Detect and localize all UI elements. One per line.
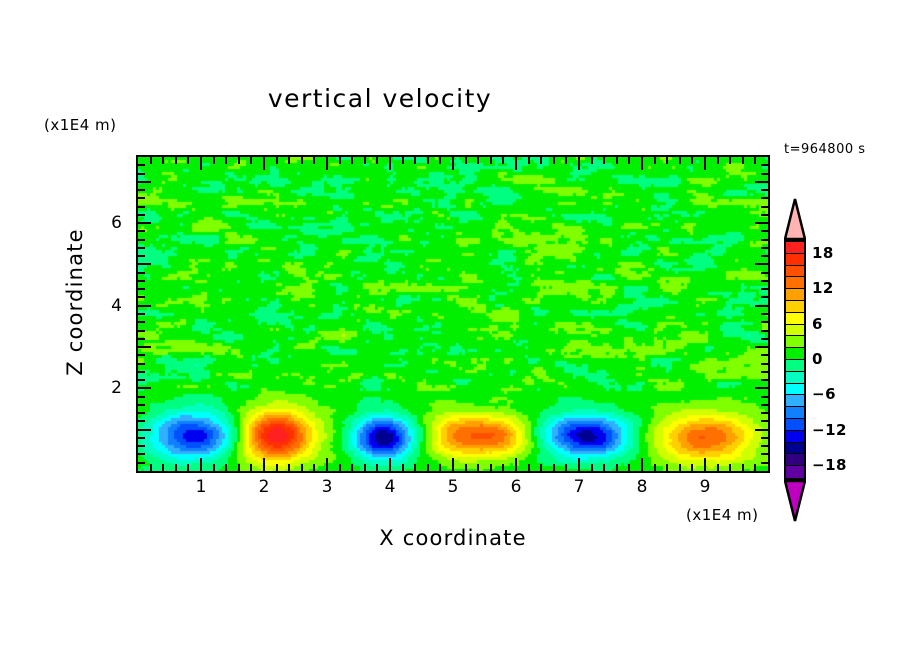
x-tick-label: 5	[433, 477, 473, 497]
x-tick-bottom	[603, 464, 605, 471]
x-tick-bottom	[502, 464, 504, 471]
x-tick-top	[364, 157, 366, 164]
x-tick-bottom	[717, 464, 719, 471]
z-tick-left	[138, 453, 145, 455]
x-tick-bottom	[389, 458, 391, 471]
colorbar-band	[786, 454, 804, 466]
x-tick-top	[402, 157, 404, 164]
colorbar-band	[786, 360, 804, 372]
z-tick-label: 2	[92, 378, 122, 398]
x-tick-top	[452, 157, 454, 170]
z-tick-left	[138, 164, 145, 166]
z-tick-right	[761, 363, 768, 365]
z-tick-right	[761, 354, 768, 356]
x-tick-top	[591, 157, 593, 164]
x-tick-top	[616, 157, 618, 164]
z-tick-right	[761, 379, 768, 381]
z-tick-right	[755, 429, 768, 431]
x-tick-bottom	[339, 464, 341, 471]
z-tick-left	[138, 379, 145, 381]
x-tick-top	[339, 157, 341, 164]
z-tick-left	[138, 412, 145, 414]
x-tick-top	[263, 157, 265, 170]
x-tick-bottom	[150, 464, 152, 471]
z-tick-left	[138, 429, 151, 431]
x-tick-bottom	[540, 464, 542, 471]
x-axis-unit-label: (x1E4 m)	[686, 506, 759, 524]
z-tick-right	[761, 445, 768, 447]
z-tick-right	[755, 222, 768, 224]
colorbar-tick-label: −6	[812, 385, 836, 403]
x-tick-bottom	[729, 464, 731, 471]
x-tick-bottom	[553, 464, 555, 471]
x-tick-top	[515, 157, 517, 170]
x-tick-top	[351, 157, 353, 164]
x-tick-top	[729, 157, 731, 164]
colorbar-tick-label: −12	[812, 421, 847, 439]
z-tick-left	[138, 272, 145, 274]
z-tick-left	[138, 230, 145, 232]
x-tick-bottom	[276, 464, 278, 471]
x-tick-bottom	[578, 458, 580, 471]
z-tick-right	[761, 420, 768, 422]
z-tick-left	[138, 189, 145, 191]
colorbar-band	[786, 419, 804, 431]
colorbar-band	[786, 336, 804, 348]
colorbar-over-arrow	[784, 198, 806, 240]
x-tick-bottom	[402, 464, 404, 471]
z-tick-label: 4	[92, 296, 122, 316]
colorbar-band	[786, 313, 804, 325]
x-tick-top	[200, 157, 202, 170]
z-tick-right	[761, 214, 768, 216]
z-tick-left	[138, 222, 151, 224]
colorbar-tick-label: 18	[812, 244, 834, 262]
x-tick-bottom	[490, 464, 492, 471]
z-tick-right	[761, 173, 768, 175]
colorbar-band	[786, 431, 804, 443]
colorbar-band	[786, 301, 804, 313]
z-tick-left	[138, 288, 145, 290]
x-tick-top	[213, 157, 215, 164]
x-tick-label: 3	[307, 477, 347, 497]
z-tick-left	[138, 354, 145, 356]
x-tick-bottom	[376, 464, 378, 471]
x-tick-top	[704, 157, 706, 170]
x-tick-top	[578, 157, 580, 170]
z-tick-right	[761, 280, 768, 282]
z-tick-right	[755, 346, 768, 348]
x-tick-label: 6	[496, 477, 536, 497]
x-tick-top	[250, 157, 252, 164]
z-tick-left	[138, 462, 145, 464]
z-tick-left	[138, 255, 145, 257]
x-tick-label: 1	[181, 477, 221, 497]
x-tick-top	[641, 157, 643, 170]
x-tick-bottom	[452, 458, 454, 471]
z-tick-right	[761, 247, 768, 249]
colorbar-band	[786, 384, 804, 396]
colorbar-band	[786, 242, 804, 254]
x-tick-top	[376, 157, 378, 164]
z-tick-left	[138, 445, 145, 447]
x-tick-bottom	[477, 464, 479, 471]
z-tick-left	[138, 280, 145, 282]
x-tick-top	[528, 157, 530, 164]
z-tick-right	[761, 272, 768, 274]
z-tick-left	[138, 305, 151, 307]
x-tick-top	[691, 157, 693, 164]
colorbar[interactable]	[784, 240, 806, 480]
z-tick-left	[138, 239, 145, 241]
y-axis-unit-label: (x1E4 m)	[44, 116, 117, 134]
z-tick-right	[761, 296, 768, 298]
x-tick-bottom	[754, 464, 756, 471]
x-tick-bottom	[666, 464, 668, 471]
z-tick-left	[138, 420, 145, 422]
x-tick-top	[717, 157, 719, 164]
z-tick-left	[138, 396, 145, 398]
z-tick-right	[761, 230, 768, 232]
z-tick-right	[761, 453, 768, 455]
x-tick-top	[414, 157, 416, 164]
x-tick-label: 9	[685, 477, 725, 497]
vertical-velocity-heatmap	[138, 157, 768, 471]
z-tick-left	[138, 321, 145, 323]
z-tick-right	[755, 181, 768, 183]
timestamp-label: t=964800 s	[784, 142, 866, 157]
x-tick-top	[502, 157, 504, 164]
x-tick-top	[477, 157, 479, 164]
x-tick-label: 7	[559, 477, 599, 497]
x-tick-top	[490, 157, 492, 164]
x-tick-bottom	[616, 464, 618, 471]
x-tick-bottom	[313, 464, 315, 471]
z-tick-left	[138, 338, 145, 340]
z-tick-right	[761, 338, 768, 340]
z-tick-left	[138, 173, 145, 175]
z-tick-left	[138, 387, 151, 389]
x-tick-bottom	[187, 464, 189, 471]
colorbar-tick-label: 6	[812, 315, 823, 333]
z-tick-left	[138, 404, 145, 406]
contour-plot-area[interactable]	[136, 155, 770, 473]
x-tick-bottom	[628, 464, 630, 471]
x-tick-bottom	[351, 464, 353, 471]
z-tick-right	[761, 396, 768, 398]
z-tick-left	[138, 263, 151, 265]
colorbar-band	[786, 289, 804, 301]
z-tick-right	[761, 255, 768, 257]
x-tick-top	[603, 157, 605, 164]
x-tick-top	[175, 157, 177, 164]
z-tick-right	[755, 263, 768, 265]
x-tick-top	[313, 157, 315, 164]
z-tick-left	[138, 371, 145, 373]
colorbar-band	[786, 325, 804, 337]
x-tick-label: 4	[370, 477, 410, 497]
colorbar-band	[786, 443, 804, 455]
z-tick-right	[761, 189, 768, 191]
x-tick-bottom	[427, 464, 429, 471]
x-tick-bottom	[742, 464, 744, 471]
x-tick-top	[540, 157, 542, 164]
x-tick-top	[679, 157, 681, 164]
colorbar-under-arrow	[784, 480, 806, 522]
x-tick-bottom	[679, 464, 681, 471]
z-tick-left	[138, 296, 145, 298]
colorbar-band	[786, 466, 804, 478]
x-tick-top	[628, 157, 630, 164]
x-tick-bottom	[288, 464, 290, 471]
x-axis-title: X coordinate	[136, 526, 770, 550]
x-tick-top	[238, 157, 240, 164]
x-tick-top	[187, 157, 189, 164]
x-tick-top	[150, 157, 152, 164]
x-tick-top	[465, 157, 467, 164]
x-tick-bottom	[301, 464, 303, 471]
x-tick-bottom	[641, 458, 643, 471]
x-tick-top	[276, 157, 278, 164]
x-tick-top	[301, 157, 303, 164]
x-tick-bottom	[213, 464, 215, 471]
z-tick-label: 6	[92, 213, 122, 233]
z-tick-right	[761, 371, 768, 373]
z-tick-left	[138, 363, 145, 365]
x-tick-top	[666, 157, 668, 164]
x-tick-bottom	[175, 464, 177, 471]
x-tick-top	[439, 157, 441, 164]
x-tick-top	[326, 157, 328, 170]
z-tick-right	[761, 197, 768, 199]
z-tick-right	[761, 239, 768, 241]
colorbar-tick-label: 12	[812, 279, 834, 297]
z-tick-right	[761, 330, 768, 332]
z-tick-right	[761, 404, 768, 406]
z-tick-right	[761, 206, 768, 208]
colorbar-band	[786, 372, 804, 384]
x-tick-label: 2	[244, 477, 284, 497]
x-tick-top	[389, 157, 391, 170]
x-tick-top	[553, 157, 555, 164]
x-tick-bottom	[591, 464, 593, 471]
z-tick-left	[138, 197, 145, 199]
y-axis-title: Z coordinate	[63, 202, 87, 402]
z-tick-right	[761, 437, 768, 439]
x-tick-bottom	[704, 458, 706, 471]
colorbar-band	[786, 254, 804, 266]
z-tick-right	[761, 164, 768, 166]
x-tick-top	[427, 157, 429, 164]
z-tick-right	[761, 462, 768, 464]
x-tick-bottom	[364, 464, 366, 471]
colorbar-band	[786, 407, 804, 419]
x-tick-bottom	[263, 458, 265, 471]
z-tick-left	[138, 181, 151, 183]
z-tick-right	[761, 321, 768, 323]
x-tick-top	[754, 157, 756, 164]
z-tick-right	[761, 288, 768, 290]
z-tick-right	[755, 305, 768, 307]
x-tick-top	[288, 157, 290, 164]
x-tick-bottom	[528, 464, 530, 471]
z-tick-left	[138, 313, 145, 315]
z-tick-right	[755, 387, 768, 389]
x-tick-bottom	[225, 464, 227, 471]
x-tick-bottom	[565, 464, 567, 471]
x-tick-top	[162, 157, 164, 164]
z-tick-left	[138, 346, 151, 348]
x-tick-bottom	[200, 458, 202, 471]
z-tick-left	[138, 437, 145, 439]
x-tick-top	[654, 157, 656, 164]
x-tick-bottom	[654, 464, 656, 471]
x-tick-bottom	[691, 464, 693, 471]
z-tick-left	[138, 330, 145, 332]
x-tick-bottom	[465, 464, 467, 471]
z-tick-right	[761, 412, 768, 414]
x-tick-top	[742, 157, 744, 164]
colorbar-band	[786, 277, 804, 289]
x-tick-bottom	[515, 458, 517, 471]
colorbar-band	[786, 266, 804, 278]
x-tick-bottom	[162, 464, 164, 471]
x-tick-bottom	[439, 464, 441, 471]
z-tick-left	[138, 206, 145, 208]
z-tick-left	[138, 247, 145, 249]
x-tick-top	[565, 157, 567, 164]
page-title: vertical velocity	[0, 84, 760, 113]
z-tick-left	[138, 214, 145, 216]
colorbar-tick-label: 0	[812, 350, 823, 368]
colorbar-band	[786, 395, 804, 407]
colorbar-tick-label: −18	[812, 456, 847, 474]
x-tick-label: 8	[622, 477, 662, 497]
z-tick-right	[761, 313, 768, 315]
x-tick-bottom	[326, 458, 328, 471]
x-tick-bottom	[238, 464, 240, 471]
x-tick-top	[225, 157, 227, 164]
colorbar-band	[786, 348, 804, 360]
x-tick-bottom	[250, 464, 252, 471]
x-tick-bottom	[414, 464, 416, 471]
